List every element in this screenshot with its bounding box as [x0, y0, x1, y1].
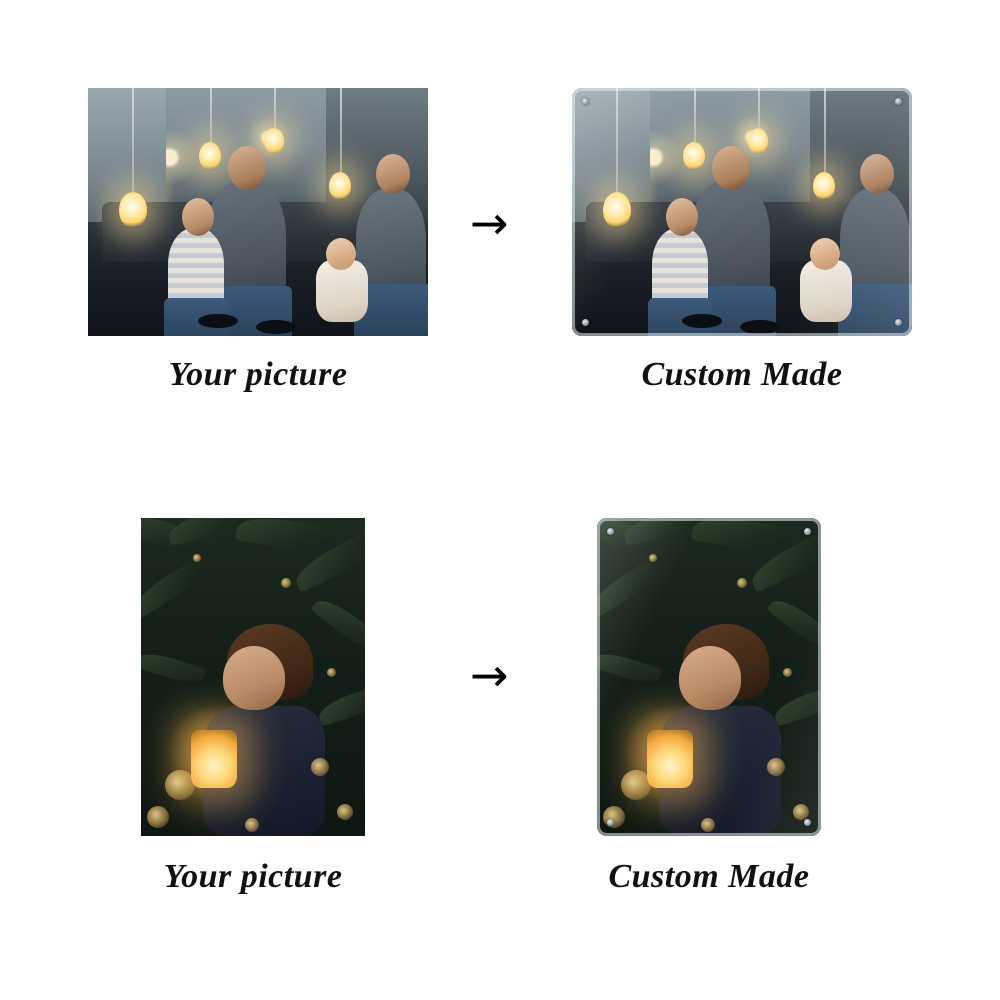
boy-photo-metal	[597, 518, 821, 836]
bulb-cord	[616, 88, 618, 198]
caption-custom-made-1: Custom Made	[572, 356, 912, 394]
leaf	[771, 683, 821, 726]
leaf	[766, 592, 821, 657]
bokeh	[147, 806, 169, 828]
jar-scene	[141, 518, 365, 836]
screw-icon	[895, 98, 902, 105]
product-comparison-graphic: Your picture →	[0, 0, 1000, 1000]
arrow-right-icon-2: →	[470, 652, 509, 698]
bulb-cord	[340, 88, 342, 176]
bulb-cord	[132, 88, 134, 198]
light-bulb-icon	[683, 142, 705, 170]
shoe	[198, 314, 238, 328]
bokeh	[165, 770, 195, 800]
caption-your-picture-2: Your picture	[141, 858, 365, 896]
result-plate-portrait: Custom Made	[597, 518, 821, 836]
leaf	[597, 648, 662, 689]
screw-icon	[804, 528, 811, 535]
father-head	[712, 146, 750, 190]
screw-icon	[582, 319, 589, 326]
screw-icon	[582, 98, 589, 105]
boy-head	[666, 198, 698, 236]
bulb-cord	[758, 88, 760, 132]
shoe	[256, 320, 296, 334]
bulb-cord	[274, 88, 276, 132]
family-photo-plain	[88, 88, 428, 336]
bulb-cord	[694, 88, 696, 146]
bulb-cord	[824, 88, 826, 176]
source-photo-portrait: Your picture	[141, 518, 365, 836]
leaf	[141, 648, 206, 689]
family-scene	[88, 88, 428, 336]
light-bulb-icon	[813, 172, 835, 200]
light-bulb-icon	[264, 128, 284, 154]
bokeh	[783, 668, 792, 677]
mother-head	[860, 154, 894, 194]
glowing-jar	[191, 730, 237, 788]
light-bulb-icon	[603, 192, 631, 228]
boy-photo-plain	[141, 518, 365, 836]
result-plate-landscape: Custom Made	[572, 88, 912, 336]
baby-head	[326, 238, 356, 270]
bokeh	[327, 668, 336, 677]
light-bulb-icon	[119, 192, 147, 228]
boy-head	[182, 198, 214, 236]
bokeh	[793, 804, 809, 820]
father-head	[228, 146, 266, 190]
boy-torso	[168, 228, 224, 308]
boy-head	[223, 646, 285, 710]
bulb-cord	[210, 88, 212, 146]
bokeh	[737, 578, 747, 588]
boy-head	[679, 646, 741, 710]
source-photo-landscape: Your picture	[88, 88, 428, 336]
family-scene-metal	[572, 88, 912, 336]
light-bulb-icon	[199, 142, 221, 170]
bokeh	[701, 818, 715, 832]
caption-custom-made-2: Custom Made	[597, 858, 821, 896]
bokeh	[767, 758, 785, 776]
leaf	[235, 518, 334, 556]
screw-icon	[607, 528, 614, 535]
family-photo-metal	[572, 88, 912, 336]
light-bulb-icon	[748, 128, 768, 154]
bokeh	[649, 554, 657, 562]
glowing-jar	[647, 730, 693, 788]
light-bulb-icon	[329, 172, 351, 200]
leaf	[597, 558, 663, 619]
baby-head	[810, 238, 840, 270]
shoe	[740, 320, 780, 334]
screw-icon	[804, 819, 811, 826]
caption-your-picture-1: Your picture	[88, 356, 428, 394]
bokeh	[311, 758, 329, 776]
bokeh	[281, 578, 291, 588]
leaf	[141, 558, 207, 619]
mother-head	[376, 154, 410, 194]
jar-scene-metal	[597, 518, 821, 836]
screw-icon	[607, 819, 614, 826]
bokeh	[245, 818, 259, 832]
screw-icon	[895, 319, 902, 326]
bokeh	[337, 804, 353, 820]
arrow-right-icon-1: →	[470, 200, 509, 246]
boy-torso	[652, 228, 708, 308]
bokeh	[603, 806, 625, 828]
bokeh	[193, 554, 201, 562]
bokeh	[621, 770, 651, 800]
leaf	[310, 592, 365, 657]
leaf	[691, 518, 790, 556]
shoe	[682, 314, 722, 328]
leaf	[315, 683, 365, 726]
